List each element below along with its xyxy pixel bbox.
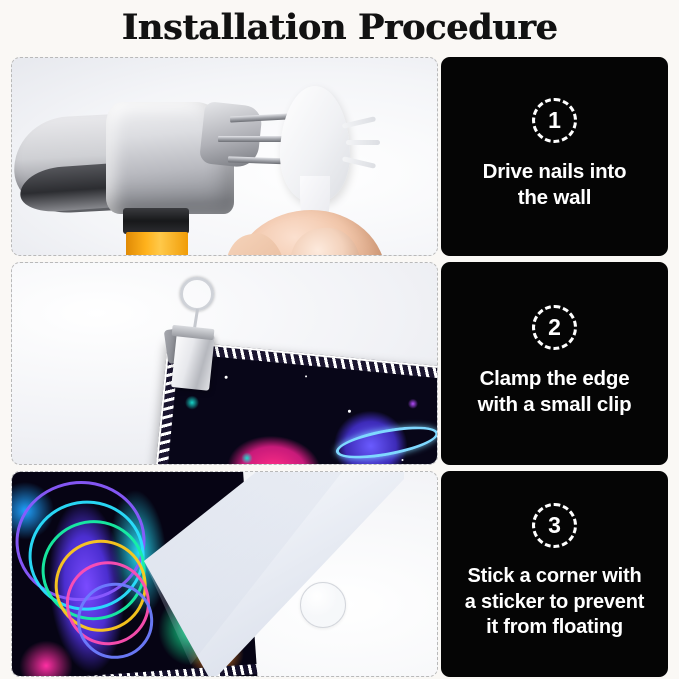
step-3-caption-panel: 3 Stick a corner with a sticker to preve…: [441, 471, 668, 677]
page-title: Installation Procedure: [122, 10, 558, 45]
step-1-caption-panel: 1 Drive nails into the wall: [441, 57, 668, 256]
hammer-icon: [11, 82, 246, 232]
step-1-number: 1: [548, 109, 561, 132]
step-3-caption-text: Stick a corner with a sticker to prevent…: [465, 564, 644, 640]
step-row-3: 3 Stick a corner with a sticker to preve…: [11, 471, 668, 677]
hammer-collar: [123, 208, 189, 234]
step-2-caption-text: Clamp the edge with a small clip: [478, 366, 632, 418]
binder-clip-icon: [170, 291, 216, 361]
step-1-caption-line-1: Drive nails into: [483, 159, 627, 185]
step-3-number: 3: [548, 514, 561, 537]
step-1-caption-text: Drive nails into the wall: [483, 159, 627, 211]
steps-container: 1 Drive nails into the wall: [11, 57, 668, 677]
star: [305, 375, 307, 377]
adhesive-sticker-icon: [300, 582, 346, 628]
title-bar: Installation Procedure: [0, 0, 679, 55]
star: [224, 376, 227, 379]
clip-body: [171, 331, 215, 391]
step-3-number-badge: 3: [532, 503, 577, 548]
step-row-2: 2 Clamp the edge with a small clip: [11, 262, 668, 465]
step-2-caption-line-1: Clamp the edge: [478, 366, 632, 392]
step-3-caption-line-2: a sticker to prevent: [465, 590, 644, 615]
star: [401, 459, 403, 461]
step-2-caption-panel: 2 Clamp the edge with a small clip: [441, 262, 668, 465]
step-2-caption-line-2: with a small clip: [478, 392, 632, 418]
step-row-1: 1 Drive nails into the wall: [11, 57, 668, 256]
step-2-photo: [11, 262, 438, 465]
step-3-caption-line-1: Stick a corner with: [465, 564, 644, 589]
step-1-number-badge: 1: [532, 98, 577, 143]
clip-ring: [180, 277, 214, 311]
star: [348, 410, 351, 413]
step-2-number-badge: 2: [532, 305, 577, 350]
step-3-photo: [11, 471, 438, 677]
step-1-caption-line-2: the wall: [483, 185, 627, 211]
planet-ring: [334, 420, 438, 465]
hook-prong: [346, 140, 380, 145]
step-1-photo: [11, 57, 438, 256]
step-3-caption-line-3: it from floating: [465, 615, 644, 640]
hammer-handle: [126, 232, 188, 256]
step-2-number: 2: [548, 316, 561, 339]
